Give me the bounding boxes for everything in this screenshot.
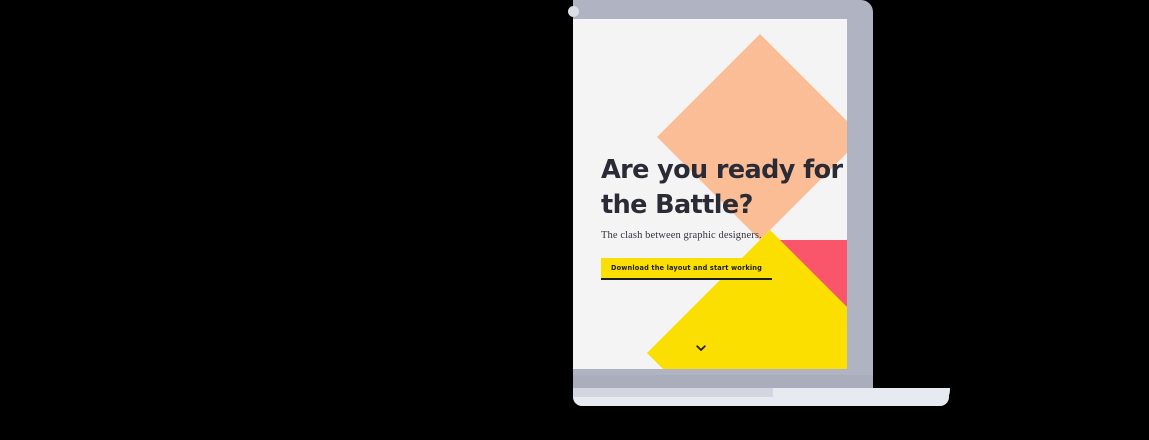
laptop-base-shadow bbox=[573, 388, 773, 397]
download-layout-button[interactable]: Download the layout and start working bbox=[601, 258, 772, 280]
laptop-bezel-lip bbox=[573, 375, 873, 389]
webcam-icon bbox=[568, 6, 579, 17]
hero-decorative-shapes bbox=[573, 19, 847, 369]
laptop-screen bbox=[573, 19, 847, 369]
chevron-down-icon[interactable] bbox=[694, 341, 708, 355]
cta-wrapper: Download the layout and start working bbox=[601, 257, 772, 280]
laptop-mockup: Are you ready for the Battle? The clash … bbox=[0, 0, 1149, 440]
peach-diamond-shape bbox=[657, 34, 847, 240]
chevron-down-glyph bbox=[694, 341, 708, 355]
